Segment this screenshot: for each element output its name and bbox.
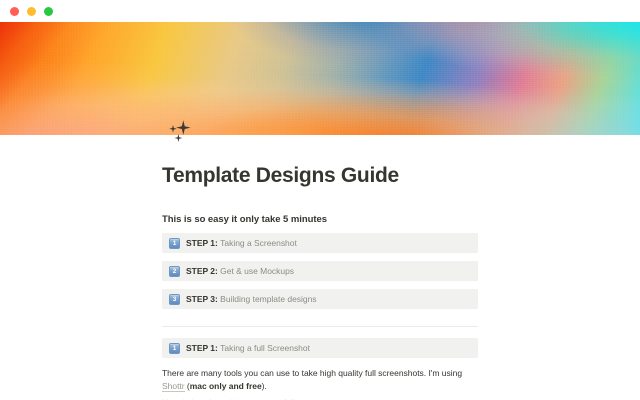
list-item-label: STEP 1: Taking a Screenshot [186,233,297,253]
maximize-window-button[interactable] [44,7,53,16]
paragraph-text-bold: mac only and free [190,381,262,391]
shottr-link[interactable]: Shottr [162,381,185,392]
minimize-window-button[interactable] [27,7,36,16]
step-number-badge: 2 [169,266,180,277]
step-label: STEP 2: [186,266,220,276]
step-description: Building template designs [220,294,316,304]
list-item[interactable]: 3 STEP 3: Building template designs [162,289,478,309]
page-subtitle: This is so easy it only take 5 minutes [162,213,327,226]
list-item-label: STEP 2: Get & use Mockups [186,261,294,281]
detail-step-header[interactable]: 1 STEP 1: Taking a full Screenshot [162,338,478,358]
steps-list: 1 STEP 1: Taking a Screenshot 2 STEP 2: … [162,233,478,309]
close-window-button[interactable] [10,7,19,16]
step-description: Taking a Screenshot [220,238,297,248]
page-title[interactable]: Template Designs Guide [162,163,399,189]
step-description: Taking a full Screenshot [220,343,310,353]
step-number-badge: 1 [169,343,180,354]
step-label: STEP 3: [186,294,220,304]
cover-gradient-grain [0,22,640,135]
step-number-badge: 3 [169,294,180,305]
detail-step-label: STEP 1: Taking a full Screenshot [186,338,310,358]
sparkles-icon[interactable] [162,112,200,150]
step-label: STEP 1: [186,238,220,248]
paragraph-text-after: ). [262,381,267,391]
list-item[interactable]: 1 STEP 1: Taking a Screenshot [162,233,478,253]
step-label: STEP 1: [186,343,220,353]
app-window: Template Designs Guide This is so easy i… [0,0,640,400]
list-item[interactable]: 2 STEP 2: Get & use Mockups [162,261,478,281]
step-number-badge: 1 [169,238,180,249]
section-divider [162,326,478,327]
detail-section: 1 STEP 1: Taking a full Screenshot There… [162,338,478,400]
window-controls [10,7,53,16]
paragraph-text-before: There are many tools you can use to take… [162,368,462,378]
cover-banner-image[interactable] [0,22,640,135]
document-content: Template Designs Guide This is so easy i… [0,135,640,400]
body-paragraph: There are many tools you can use to take… [162,367,478,392]
clipped-body-text: Here is how I use it to capture a full p… [162,396,478,400]
list-item-label: STEP 3: Building template designs [186,289,317,309]
step-description: Get & use Mockups [220,266,294,276]
window-title-bar [0,0,640,22]
